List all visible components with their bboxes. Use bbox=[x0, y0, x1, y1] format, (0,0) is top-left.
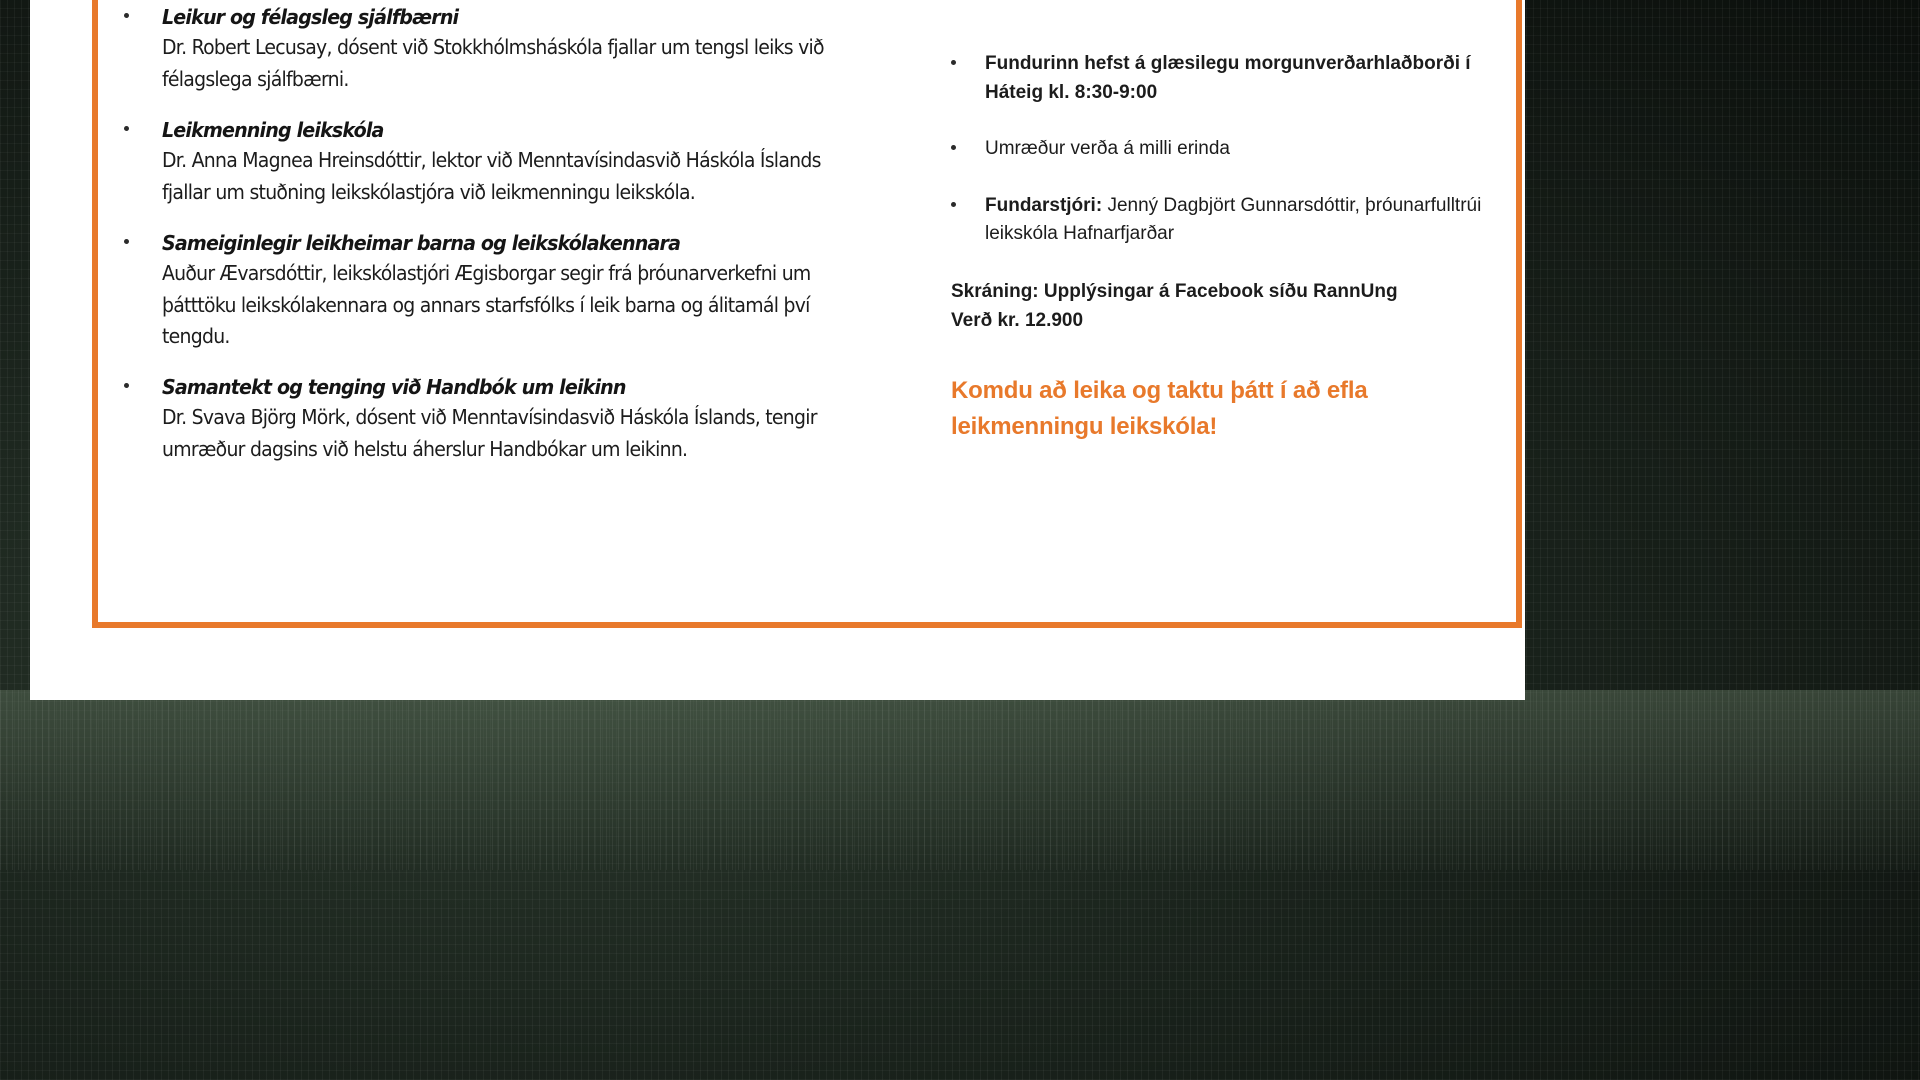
list-item: Fundurinn hefst á glæsilegu morgunverðar… bbox=[943, 50, 1503, 107]
list-item: Sameiginlegir leikheimar barna og leiksk… bbox=[114, 230, 914, 354]
program-heading: Leikmenning leikskóla bbox=[162, 117, 861, 143]
registration-line1: Skráning: Upplýsingar á Facebook síðu Ra… bbox=[951, 277, 1503, 306]
program-heading: Samantekt og tenging við Handbók um leik… bbox=[162, 374, 861, 400]
practical-text: Umræður verða á milli erinda bbox=[985, 138, 1230, 159]
list-item: Fundarstjóri: Jenný Dagbjört Gunnarsdótt… bbox=[943, 192, 1503, 249]
slide-body: Leikur og félagsleg sjálfbærni Dr. Rober… bbox=[98, 4, 1528, 624]
bullet-icon bbox=[124, 383, 129, 388]
bullet-icon bbox=[124, 239, 129, 244]
slide-sheet: RannUng Rannsóknarstofa í menntunarfræðu… bbox=[30, 0, 1525, 700]
cta-line2: leikmenningu leikskóla! bbox=[951, 409, 1503, 445]
registration-line2: Verð kr. 12.900 bbox=[951, 306, 1503, 335]
program-list: Leikur og félagsleg sjálfbærni Dr. Rober… bbox=[114, 4, 914, 487]
program-body: Dr. Robert Lecusay, dósent við Stokkhólm… bbox=[162, 32, 854, 96]
cta-line1: Komdu að leika og taktu þátt í að efla bbox=[951, 373, 1503, 409]
bullet-icon bbox=[124, 126, 129, 131]
program-body: Dr. Svava Björg Mörk, dósent við Menntav… bbox=[162, 402, 854, 466]
bullet-icon bbox=[124, 13, 129, 18]
bullet-icon bbox=[951, 145, 956, 150]
practical-info: Fundurinn hefst á glæsilegu morgunverðar… bbox=[943, 50, 1503, 445]
program-heading: Sameiginlegir leikheimar barna og leiksk… bbox=[162, 230, 861, 256]
bullet-icon bbox=[951, 60, 956, 65]
call-to-action: Komdu að leika og taktu þátt í að efla l… bbox=[943, 373, 1503, 445]
list-item: Umræður verða á milli erinda bbox=[943, 135, 1503, 164]
bullet-icon bbox=[951, 202, 956, 207]
program-body: Auður Ævarsdóttir, leikskólastjóri Ægisb… bbox=[162, 258, 854, 353]
registration-block: Skráning: Upplýsingar á Facebook síðu Ra… bbox=[943, 277, 1503, 336]
list-item: Samantekt og tenging við Handbók um leik… bbox=[114, 374, 914, 466]
slide-frame: RannUng Rannsóknarstofa í menntunarfræðu… bbox=[92, 0, 1522, 628]
list-item: Leikur og félagsleg sjálfbærni Dr. Rober… bbox=[114, 4, 914, 96]
practical-label: Fundarstjóri: bbox=[985, 195, 1102, 216]
list-item: Leikmenning leikskóla Dr. Anna Magnea Hr… bbox=[114, 117, 914, 209]
practical-text: Fundurinn hefst á glæsilegu morgunverðar… bbox=[985, 53, 1471, 103]
program-heading: Leikur og félagsleg sjálfbærni bbox=[162, 4, 861, 30]
wallpaper-band bbox=[0, 690, 1920, 870]
program-body: Dr. Anna Magnea Hreinsdóttir, lektor við… bbox=[162, 145, 854, 209]
